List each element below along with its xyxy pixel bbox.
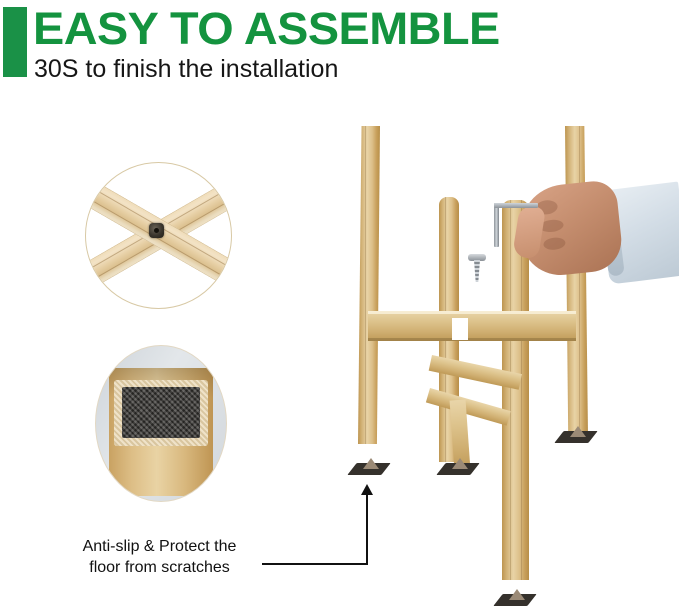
subheadline: 30S to finish the installation [34, 55, 338, 83]
inset-joint-detail [85, 162, 232, 309]
allen-key-arm [494, 203, 538, 208]
callout-label: Anti-slip & Protect the floor from scrat… [62, 536, 257, 578]
callout-line-2: floor from scratches [62, 557, 257, 578]
callout-leader-vertical [366, 492, 368, 565]
accent-bar [3, 7, 27, 77]
bolt-icon [149, 223, 164, 238]
foot-pad-1 [352, 458, 386, 475]
screw-shaft [474, 260, 480, 282]
allen-key-icon [494, 203, 499, 247]
screw-icon [468, 254, 486, 261]
product-infographic: EASY TO ASSEMBLE 30S to finish the insta… [0, 0, 679, 613]
inset-foot-pad-detail [95, 345, 227, 502]
leg-back-left [358, 126, 380, 444]
header: EASY TO ASSEMBLE 30S to finish the insta… [0, 0, 679, 100]
foot-pad-4 [498, 589, 532, 606]
cross-rail-upper [368, 311, 576, 341]
foot-pad-2 [441, 458, 475, 475]
leg-back-right [565, 126, 588, 436]
callout-line-1: Anti-slip & Protect the [62, 536, 257, 557]
anti-slip-pad [122, 387, 200, 438]
callout-arrow-icon [361, 484, 373, 495]
callout-leader-horizontal [262, 563, 368, 565]
foot-pad-3 [559, 426, 593, 443]
cross-rail-notch [452, 318, 468, 340]
headline: EASY TO ASSEMBLE [33, 6, 500, 52]
